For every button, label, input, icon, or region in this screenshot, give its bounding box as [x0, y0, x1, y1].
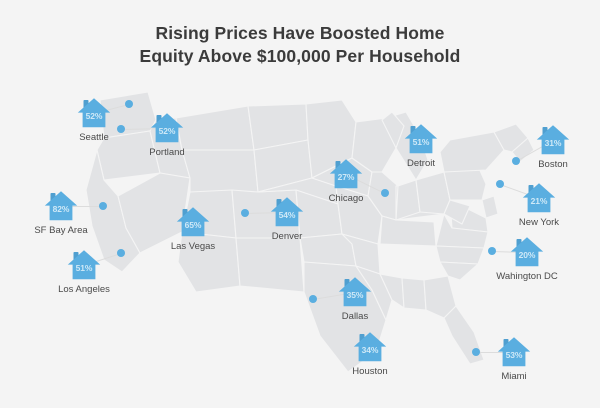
location-dot-new-york[interactable]	[496, 180, 504, 188]
house-icon	[336, 273, 374, 311]
house-icon	[65, 246, 103, 284]
house-icon	[174, 203, 212, 241]
location-dot-seattle[interactable]	[125, 100, 133, 108]
city-label: Seattle	[34, 132, 154, 143]
house-icon	[495, 333, 533, 371]
house-icon	[534, 121, 572, 159]
city-label: Denver	[227, 231, 347, 242]
location-dot-denver[interactable]	[241, 209, 249, 217]
house-icon	[327, 155, 365, 193]
house-icon	[351, 328, 389, 366]
house-icon	[148, 109, 186, 147]
house-icon	[520, 179, 558, 217]
house-icon	[42, 187, 80, 225]
location-dot-washington-dc[interactable]	[488, 247, 496, 255]
location-dot-portland[interactable]	[117, 125, 125, 133]
city-label: Detroit	[361, 158, 481, 169]
house-icon	[508, 233, 546, 271]
city-label: Dallas	[295, 311, 415, 322]
city-label: Las Vegas	[133, 241, 253, 252]
city-label: Miami	[454, 371, 574, 382]
location-dot-los-angeles[interactable]	[117, 249, 125, 257]
location-dot-sf-bay-area[interactable]	[99, 202, 107, 210]
city-markers-layer: 52%Seattle52%Portland82%SF Bay Area51%Lo…	[0, 0, 600, 408]
city-label: Los Angeles	[24, 284, 144, 295]
city-label: Houston	[310, 366, 430, 377]
house-icon	[75, 94, 113, 132]
city-label: Chicago	[286, 193, 406, 204]
location-dot-dallas[interactable]	[309, 295, 317, 303]
city-label: Portland	[107, 147, 227, 158]
city-label: Wahington DC	[467, 271, 587, 282]
city-label: New York	[479, 217, 599, 228]
city-label: Boston	[493, 159, 600, 170]
city-label: SF Bay Area	[1, 225, 121, 236]
location-dot-miami[interactable]	[472, 348, 480, 356]
infographic-map: Rising Prices Have Boosted Home Equity A…	[0, 0, 600, 408]
house-icon	[402, 120, 440, 158]
